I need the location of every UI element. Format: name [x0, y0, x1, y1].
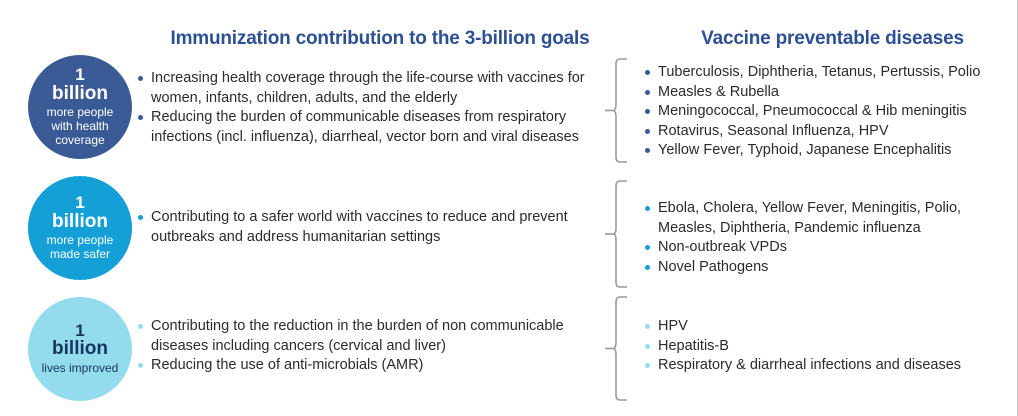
goal-circle-3: 1 billion lives improved: [28, 297, 132, 401]
list-item: Hepatitis-B: [645, 337, 1000, 357]
list-item: HPV: [645, 317, 1000, 337]
page-title-vaccine-preventable-diseases: Vaccine preventable diseases: [660, 28, 1005, 50]
goal-circle-1: 1 billion more people with health covera…: [28, 55, 132, 159]
goal-1-subtitle-line-3: coverage: [55, 133, 104, 147]
goal-2-subtitle-line-2: made safer: [50, 247, 110, 261]
brace-connector-2: [614, 180, 638, 288]
list-item: Novel Pathogens: [645, 258, 1000, 278]
goal-2-number: 1: [75, 194, 84, 212]
list-item: Yellow Fever, Typhoid, Japanese Encephal…: [645, 141, 1005, 161]
disease-list-3: HPV Hepatitis-B Respiratory & diarrheal …: [645, 317, 1000, 376]
list-item: Measles & Rubella: [645, 83, 1005, 103]
contribution-list-3: Contributing to the reduction in the bur…: [138, 317, 608, 376]
list-item: Ebola, Cholera, Yellow Fever, Meningitis…: [645, 199, 1000, 238]
goal-1-number: 1: [75, 66, 84, 84]
contribution-list-1: Increasing health coverage through the l…: [138, 69, 600, 147]
list-item: Reducing the burden of communicable dise…: [138, 108, 600, 147]
page-title-immunization-contribution: Immunization contribution to the 3-billi…: [150, 28, 610, 50]
goal-3-subtitle: lives improved: [42, 362, 119, 376]
goal-1-unit: billion: [52, 84, 108, 105]
list-item: Contributing to the reduction in the bur…: [138, 317, 608, 356]
goal-1-subtitle-line-2: with health: [51, 119, 108, 133]
list-item: Non-outbreak VPDs: [645, 238, 1000, 258]
goal-2-unit: billion: [52, 212, 108, 233]
goal-3-subtitle-line-1: lives improved: [42, 361, 119, 375]
list-item: Respiratory & diarrheal infections and d…: [645, 356, 1000, 376]
contribution-list-2: Contributing to a safer world with vacci…: [138, 208, 600, 247]
slide-canvas: Immunization contribution to the 3-billi…: [0, 0, 1018, 416]
goal-2-subtitle: more people made safer: [47, 234, 114, 262]
list-item: Contributing to a safer world with vacci…: [138, 208, 600, 247]
list-item: Meningococcal, Pneumococcal & Hib mening…: [645, 102, 1005, 122]
disease-list-1: Tuberculosis, Diphtheria, Tetanus, Pertu…: [645, 63, 1005, 161]
list-item: Tuberculosis, Diphtheria, Tetanus, Pertu…: [645, 63, 1005, 83]
goal-3-unit: billion: [52, 339, 108, 360]
list-item: Rotavirus, Seasonal Influenza, HPV: [645, 122, 1005, 142]
list-item: Reducing the use of anti-microbials (AMR…: [138, 356, 608, 376]
disease-list-2: Ebola, Cholera, Yellow Fever, Meningitis…: [645, 199, 1000, 277]
brace-connector-3: [614, 296, 638, 401]
list-item: Increasing health coverage through the l…: [138, 69, 600, 108]
goal-circle-2: 1 billion more people made safer: [28, 176, 132, 280]
goal-1-subtitle: more people with health coverage: [47, 106, 114, 148]
goal-2-subtitle-line-1: more people: [47, 233, 114, 247]
brace-connector-1: [614, 58, 638, 163]
goal-1-subtitle-line-1: more people: [47, 105, 114, 119]
